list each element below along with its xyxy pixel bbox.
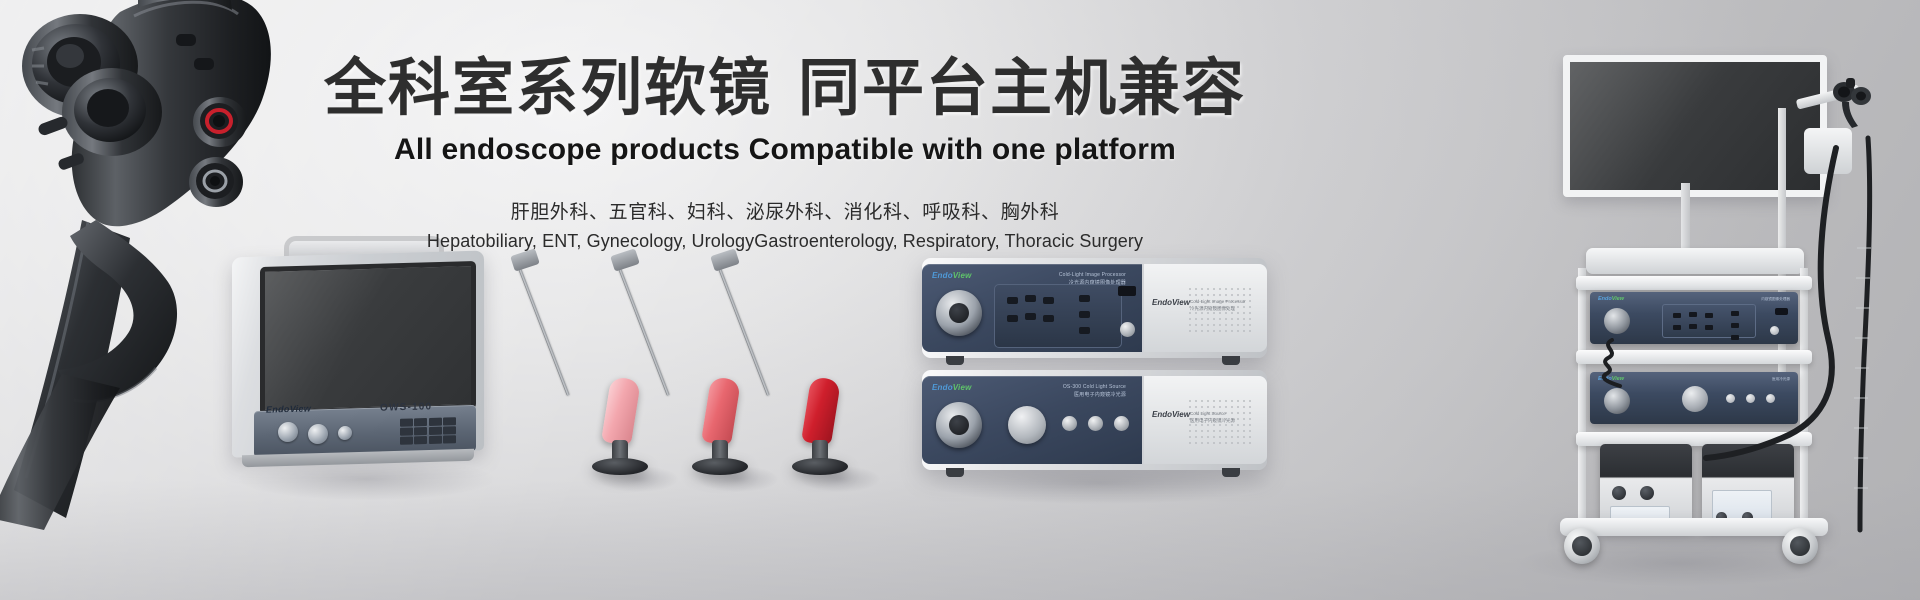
light-source-side-sub-cn: 医用电子内窥镜冷光源	[1190, 417, 1235, 424]
light-source-side-sub: Cold Light Source 医用电子内窥镜冷光源	[1190, 410, 1235, 424]
cart-scope-connector-port[interactable]	[1604, 308, 1630, 334]
cart-brightness-dial[interactable]	[1682, 386, 1708, 412]
workstation-brand-label: EndoView	[266, 403, 311, 414]
brand-view: View	[953, 383, 972, 392]
brand-endo: Endo	[932, 271, 953, 280]
headline-text-block: 全科室系列软镜同平台主机兼容 All endoscope products Co…	[0, 52, 1570, 252]
brand-view: View	[953, 271, 972, 280]
instrument-shaft	[714, 257, 770, 396]
coiled-connector-cable	[1596, 338, 1666, 388]
workstation-keypad[interactable]	[400, 417, 456, 445]
image-processor-unit: EndoView Cold-Light Image Processor 冷光源内…	[922, 258, 1267, 358]
processor-label-en: Cold-Light Image Processor	[1059, 272, 1126, 280]
processor-stack: EndoView Cold-Light Image Processor 冷光源内…	[922, 258, 1267, 480]
light-source-side-cover: EndoView Cold Light Source 医用电子内窥镜冷光源	[1144, 376, 1267, 464]
page-title: 全科室系列软镜同平台主机兼容	[0, 52, 1570, 125]
light-source-foot	[1222, 468, 1240, 477]
promo-banner: 全科室系列软镜同平台主机兼容 All endoscope products Co…	[0, 0, 1920, 600]
departments-english: Hepatobiliary, ENT, Gynecology, UrologyG…	[0, 231, 1570, 252]
brand-endo: Endo	[1598, 296, 1612, 302]
headline-cn-part1: 全科室系列软镜	[324, 54, 772, 123]
workstation-model-label: OWS-100	[380, 401, 432, 413]
processor-side-cover: EndoView Cold-Light Image Processor 冷光源内…	[1144, 264, 1267, 352]
endoscope-workstation-monitor: EndoView OWS-100	[232, 236, 484, 476]
light-source-brand-logo: EndoView	[932, 383, 972, 392]
instrument-shaft	[514, 257, 570, 396]
endoscope-insertion-tube	[1718, 138, 1898, 538]
light-source-unit: EndoView OS-300 Cold Light Source 医用电子内窥…	[922, 370, 1267, 470]
cart-caster-left	[1564, 528, 1600, 564]
headline-cn-part2: 同平台主机兼容	[798, 54, 1246, 123]
processor-power-button[interactable]	[1120, 322, 1135, 337]
hanging-flexible-endoscope	[1830, 78, 1876, 130]
scope-connector-port[interactable]	[936, 290, 982, 336]
light-source-button-1[interactable]	[1062, 416, 1077, 431]
brand-endo: Endo	[932, 383, 953, 392]
light-source-foot	[946, 468, 964, 477]
light-source-model-label: OS-300 Cold Light Source 医用电子内窥镜冷光源	[1063, 384, 1126, 399]
cart-light-guide-port[interactable]	[1604, 388, 1630, 414]
cart-frame-left	[1578, 268, 1586, 518]
brightness-dial[interactable]	[1008, 406, 1046, 444]
departments-chinese: 肝胆外科、五官科、妇科、泌尿外科、消化科、呼吸科、胸外科	[0, 197, 1570, 224]
instrument-stand-base	[792, 458, 848, 475]
instrument-handle[interactable]	[801, 376, 841, 446]
light-source-label-cn: 医用电子内窥镜冷光源	[1063, 392, 1126, 400]
light-source-label-en: OS-300 Cold Light Source	[1063, 384, 1126, 392]
processor-usb-port[interactable]	[1118, 286, 1136, 296]
processor-side-sub: Cold-Light Image Processor 冷光源内窥镜图像处理	[1190, 298, 1246, 312]
rigid-instrument-red	[712, 250, 862, 480]
processor-side-brand: EndoView	[1152, 298, 1190, 307]
instrument-shaft	[614, 257, 670, 396]
light-source-side-brand: EndoView	[1152, 410, 1190, 419]
monitor-support-stem	[1681, 183, 1690, 251]
processor-front-panel: EndoView Cold-Light Image Processor 冷光源内…	[922, 264, 1142, 352]
processor-side-sub-en: Cold-Light Image Processor	[1190, 298, 1246, 305]
light-source-button-3[interactable]	[1114, 416, 1129, 431]
processor-button-panel[interactable]	[994, 284, 1122, 348]
brand-view: View	[1612, 296, 1624, 302]
light-guide-port[interactable]	[936, 402, 982, 448]
processor-foot	[946, 356, 964, 365]
processor-brand-logo: EndoView	[932, 271, 972, 280]
cart-processor-brand: EndoView	[1598, 296, 1624, 302]
light-source-button-2[interactable]	[1088, 416, 1103, 431]
processor-foot	[1222, 356, 1240, 365]
light-source-side-sub-en: Cold Light Source	[1190, 410, 1235, 417]
subtitle-english: All endoscope products Compatible with o…	[0, 133, 1570, 167]
light-source-front-panel: EndoView OS-300 Cold Light Source 医用电子内窥…	[922, 376, 1142, 464]
processor-side-sub-cn: 冷光源内窥镜图像处理	[1190, 305, 1246, 312]
workstation-display-screen	[260, 261, 476, 415]
